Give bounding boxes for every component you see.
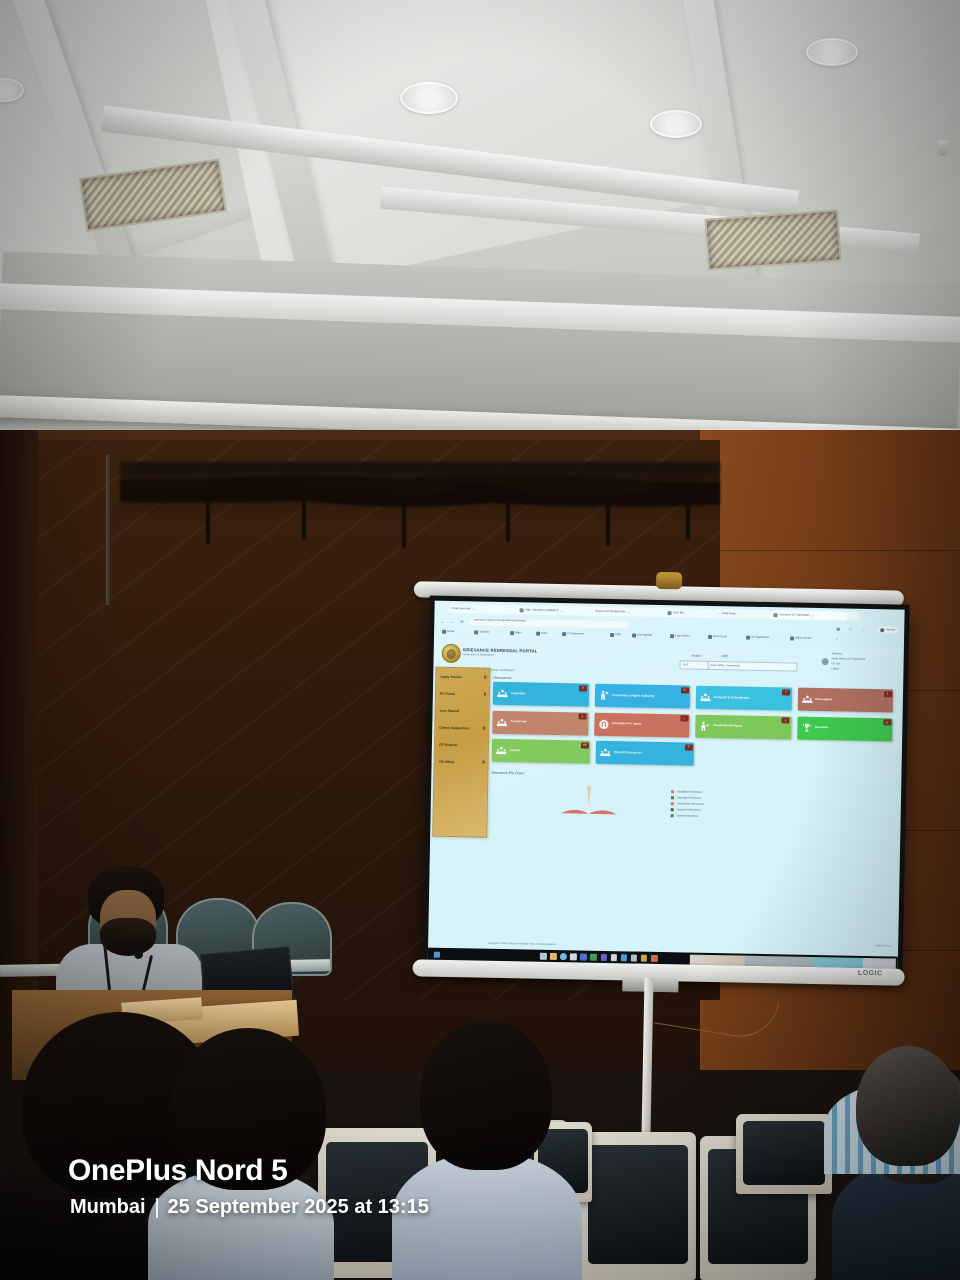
legend-swatch — [671, 796, 674, 799]
decorative-garland — [686, 500, 690, 540]
legend-label: Resolved Grievances — [677, 808, 702, 811]
portal-page: GRIEVANCE REDRESSAL PORTAL Government of… — [428, 640, 904, 970]
chevron-right-icon — [482, 761, 485, 764]
chevron-right-icon — [484, 676, 487, 679]
backdrop-pole — [106, 455, 111, 605]
government-emblem-icon — [442, 644, 461, 663]
tile-label: Closed — [510, 749, 520, 752]
tripod-pole — [641, 978, 653, 1148]
overflow-label: » — [836, 637, 838, 640]
tile-row: Submitted 8 Forwarded to Higher Authorit… — [493, 682, 893, 713]
language-link-english[interactable]: English — [692, 654, 701, 658]
tile-row: Transferred 4 Forwarded For Inputs 1 Res… — [492, 710, 892, 741]
decorative-garland — [206, 500, 210, 544]
group-icon — [497, 688, 508, 699]
chart-credit: Highcharts.com — [876, 944, 893, 947]
year-filter-value: 2025 — [682, 663, 688, 666]
bookmark-item[interactable]: News Cycle — [708, 635, 727, 639]
presenter-beard — [100, 918, 156, 956]
recessed-light — [400, 82, 458, 114]
legend-swatch — [671, 802, 674, 805]
tab-title: Create new draft — [452, 607, 471, 610]
legend-label: Transferred Grievances — [677, 802, 704, 806]
ac-vent — [704, 209, 841, 270]
user-menu[interactable]: Welcome, Nodal Officer, ICT Department C… — [821, 652, 899, 672]
bookmark-label: Login Admin — [675, 635, 689, 638]
chrome-icon[interactable] — [560, 953, 567, 960]
group-icon — [496, 716, 507, 727]
legend-swatch — [671, 808, 674, 811]
bookmark-label: YouTube — [479, 631, 489, 634]
bookmark-icon — [562, 632, 566, 636]
tile-label: Forwarded For Inputs — [612, 723, 642, 727]
store-icon[interactable] — [631, 954, 638, 961]
user-name: Nodal Officer, ICT Department — [832, 657, 866, 661]
tile-count-badge: 208 — [580, 742, 588, 748]
breadcrumb: Home / Dashboard — [490, 668, 514, 672]
bookmark-item[interactable]: Office Circular — [790, 636, 812, 640]
bookmark-label: Office Circular — [795, 637, 811, 640]
menu-icon[interactable]: ⋮ — [860, 627, 864, 632]
sidebar-item-pg-portal[interactable]: PG Portal — [436, 685, 489, 703]
bookmark-item[interactable]: Login Admin — [670, 634, 689, 638]
sprinkler-head — [938, 140, 948, 156]
bookmark-label: User Manual — [637, 634, 652, 637]
watermark-device: OnePlus Nord 5 — [68, 1154, 287, 1188]
sidebar-item-apply-tracker[interactable]: Apply Tracker — [436, 668, 489, 686]
bookmark-icon — [746, 636, 750, 640]
tile-count-badge: 6 — [782, 689, 790, 695]
watermark-city: Mumbai — [70, 1196, 146, 1219]
sidebar-item-cr-offlog[interactable]: CR Offlog — [434, 753, 487, 771]
tab-title: Request for Meeting Invite — [596, 610, 626, 614]
tab-title: New Tab — [673, 611, 683, 614]
bookmark-icon — [708, 635, 712, 639]
tab-title: ePMS Portal — [721, 612, 736, 615]
teams-icon[interactable] — [600, 954, 607, 961]
sidebar-item-label: User Manual — [440, 708, 460, 712]
tile-label: Transferred — [510, 721, 526, 724]
tile-count-badge: 7 — [684, 744, 692, 750]
tile-label: Total CR Grievances — [614, 751, 642, 755]
folder-icon[interactable] — [550, 953, 557, 960]
decorative-garland — [606, 502, 610, 546]
grievance-pie-chart — [555, 782, 622, 843]
search-icon[interactable] — [540, 953, 547, 960]
tile-label: Assigned to Subordinates — [714, 696, 750, 700]
tile-reassigned[interactable]: Reassigned 3 — [797, 688, 893, 713]
tile-label: Forwarded to Higher Authority — [612, 694, 654, 698]
decorative-garland — [120, 462, 720, 520]
decorative-garland — [302, 500, 306, 540]
tab-title: Mail - Grievance Cell@gov.in — [526, 608, 559, 612]
bookmark-item[interactable]: ICT Dashboard — [746, 636, 769, 640]
close-icon[interactable]: × — [561, 609, 563, 613]
group-icon — [600, 747, 611, 758]
projection-screen: Create new draft × Mail - Grievance Cell… — [406, 581, 914, 1011]
start-icon[interactable] — [434, 951, 440, 957]
audience-head — [420, 1020, 552, 1170]
bookmark-label: Drive — [541, 632, 547, 635]
profile-chip[interactable]: Account — [877, 626, 898, 633]
bookmark-label: ICT Dashboard — [751, 636, 769, 639]
tile-total-cr-grievances[interactable]: Total CR Grievances 7 — [596, 741, 694, 766]
bookmark-icon — [474, 630, 478, 634]
browser-tab[interactable]: New Tab — [664, 608, 714, 618]
new-tab-button[interactable] — [844, 612, 859, 621]
forward-icon[interactable]: → — [450, 619, 454, 624]
group-icon — [700, 692, 711, 703]
seat-cushion — [743, 1121, 826, 1185]
watermark-separator — [156, 1198, 158, 1218]
tile-row: Closed 208 Total CR Grievances 7 — [492, 739, 892, 770]
sidebar-item-label: PG Portal — [440, 691, 455, 695]
office-select-value: Select Office / Department — [710, 664, 739, 668]
watermark-datetime: 25 September 2025 at 13:15 — [168, 1196, 429, 1219]
edge-icon[interactable] — [621, 954, 628, 961]
bookmark-label: Gmail — [447, 630, 454, 633]
ceiling — [0, 0, 960, 452]
extension-icon[interactable]: ▣ — [836, 626, 840, 631]
audience-head — [856, 1046, 960, 1166]
tile-submitted[interactable]: Submitted 8 — [493, 682, 589, 707]
tile-forwarded-for-inputs[interactable]: Forwarded For Inputs 1 — [594, 712, 690, 737]
tile-count-badge: 9 — [781, 717, 789, 723]
bookmark-icon — [632, 633, 636, 637]
chart-legend: Escalated Grievances Reassign Grievances… — [671, 790, 705, 821]
bookmark-icon — [536, 632, 540, 636]
bookmark-item[interactable]: User Manual — [632, 633, 652, 637]
audience-seat — [736, 1114, 832, 1194]
tile-label: Reassigned — [815, 698, 831, 701]
seat-cushion — [588, 1145, 688, 1263]
close-icon[interactable]: × — [717, 612, 719, 616]
tile-resolved[interactable]: Resolved 15 — [797, 716, 893, 741]
favicon — [773, 613, 777, 617]
decorative-garland — [506, 500, 510, 542]
legend-label: Reassign Grievances — [677, 796, 702, 799]
settings-icon[interactable] — [641, 955, 648, 962]
close-icon[interactable]: × — [812, 613, 814, 617]
audience-seat — [580, 1132, 696, 1280]
bookmarks-overflow[interactable]: » — [836, 637, 838, 640]
star-icon[interactable]: ☆ — [849, 627, 853, 632]
page-footer: Copyright © 2025 Grievance Redressal Por… — [488, 943, 557, 946]
media-icon[interactable] — [651, 955, 658, 962]
group-icon — [801, 694, 812, 705]
chevron-right-icon — [483, 693, 486, 696]
legend-item[interactable]: Resolved Grievances — [671, 808, 704, 812]
bookmark-item[interactable]: Maps — [510, 631, 522, 635]
person-check-icon — [699, 720, 710, 731]
chevron-right-icon — [483, 727, 486, 730]
tile-closed[interactable]: Closed 208 — [492, 739, 590, 764]
logout-link[interactable]: Logout — [831, 667, 839, 670]
tile-count-badge: 1 — [680, 715, 688, 721]
office-select[interactable]: Select Office / Department — [707, 661, 797, 672]
legend-swatch — [671, 814, 674, 817]
favicon — [667, 611, 671, 615]
bookmark-label: News Cycle — [713, 635, 727, 638]
legend-item[interactable]: Reassign Grievances — [671, 796, 704, 800]
tile-forwarded-higher-authority[interactable]: Forwarded to Higher Authority 12 — [594, 684, 690, 709]
mail-icon[interactable] — [570, 953, 577, 960]
taskbar-pinned-icons — [540, 953, 658, 962]
year-filter[interactable]: 2025 — [679, 660, 709, 670]
legend-item[interactable]: Closed Grievances — [671, 814, 704, 818]
bookmark-label: Maps — [515, 631, 521, 634]
sidebar-item-label: CR Offlog — [439, 759, 454, 763]
screen-frame: Create new draft × Mail - Grievance Cell… — [423, 596, 910, 975]
projected-image: Create new draft × Mail - Grievance Cell… — [428, 601, 905, 970]
tile-transferred[interactable]: Transferred 4 — [492, 710, 588, 735]
legend-label: Closed Grievances — [676, 814, 698, 817]
word-icon[interactable] — [580, 953, 587, 960]
bookmark-label: PMS — [615, 633, 621, 636]
legend-swatch — [671, 790, 674, 793]
bookmark-item[interactable]: IT Department — [562, 632, 584, 636]
tile-label: Resolved with Inputs — [713, 724, 742, 728]
screen-brand-label: LOGIC — [858, 970, 883, 977]
favicon — [520, 608, 524, 612]
user-role: CR Cell — [832, 662, 841, 665]
section-title-grievances: Grievances — [493, 676, 511, 680]
pdf-icon[interactable] — [610, 954, 617, 961]
back-icon[interactable]: ← — [440, 619, 444, 624]
bookmark-icon — [790, 636, 794, 640]
sidebar-item-user-manual[interactable]: User Manual — [435, 702, 488, 720]
tab-title: Grievance ICT Dashboard — [779, 613, 809, 617]
excel-icon[interactable] — [590, 954, 597, 961]
browser-tab[interactable]: Create new draft × — [448, 604, 520, 614]
browser-tab[interactable]: Request for Meeting Invite × — [592, 607, 668, 617]
sidebar-item-citizen-suggestion[interactable]: Citizen Suggestion — [435, 719, 488, 737]
page-subtitle: Government of Maharashtra — [463, 653, 494, 657]
microphone-head — [134, 950, 143, 959]
bookmark-label: IT Department — [567, 632, 584, 635]
group-icon — [496, 745, 507, 756]
tile-count-badge: 4 — [578, 713, 586, 719]
person-arrow-icon — [598, 690, 609, 701]
tile-count-badge: 3 — [883, 691, 891, 697]
sidebar-item-label: Citizen Suggestion — [439, 725, 469, 730]
tile-assigned-subordinates[interactable]: Assigned to Subordinates 6 — [696, 686, 792, 711]
avatar — [880, 628, 884, 632]
tile-resolved-with-inputs[interactable]: Resolved with Inputs 9 — [695, 714, 791, 739]
browser-tab[interactable]: × ePMS Portal — [714, 609, 772, 619]
watermark-location-time: Mumbai 25 September 2025 at 13:15 — [70, 1196, 429, 1219]
tile-count-badge: 15 — [883, 719, 891, 725]
tile-count-badge: 12 — [680, 687, 688, 693]
bookmark-item[interactable]: YouTube — [474, 630, 489, 634]
bookmark-icon — [610, 633, 614, 637]
taskbar-open-window[interactable] — [690, 954, 746, 965]
sidebar-item-label: Apply Tracker — [440, 674, 462, 678]
bookmark-item[interactable]: Gmail — [442, 630, 454, 634]
bookmark-item[interactable]: PMS — [610, 633, 621, 637]
sidebar: Apply Tracker PG Portal User Manual Citi… — [432, 667, 490, 838]
browser-tab-active[interactable]: Grievance ICT Dashboard × — [770, 610, 846, 620]
grievance-tile-grid: Submitted 8 Forwarded to Higher Authorit… — [492, 682, 894, 775]
chart-title: Grievance Pie Chart — [491, 771, 523, 776]
close-icon[interactable]: × — [473, 607, 475, 611]
pie-chart-svg — [555, 782, 622, 843]
legend-item[interactable]: Escalated Grievances — [671, 790, 704, 794]
reload-icon[interactable]: ⟳ — [460, 619, 463, 624]
tile-count-badge: 8 — [579, 685, 587, 691]
avatar — [822, 658, 829, 665]
language-link-marathi[interactable]: मराठी — [722, 654, 728, 658]
profile-label: Account — [886, 628, 895, 631]
award-icon — [801, 722, 812, 733]
bookmark-icon — [510, 631, 514, 635]
tile-label: Resolved — [815, 726, 828, 729]
bookmark-icon — [442, 630, 446, 634]
sidebar-item-cr-request[interactable]: CR Request — [435, 736, 488, 754]
recessed-light — [806, 38, 858, 66]
legend-label: Escalated Grievances — [677, 791, 702, 794]
bookmark-icon — [670, 634, 674, 638]
decorative-garland — [402, 502, 406, 548]
tile-label: Submitted — [511, 692, 525, 695]
screen-mount-knob — [656, 572, 682, 589]
close-icon[interactable]: × — [628, 610, 630, 614]
recessed-light — [650, 110, 702, 138]
user-greeting: Welcome, — [832, 652, 843, 655]
bookmark-item[interactable]: Drive — [536, 632, 547, 636]
browser-tab[interactable]: Mail - Grievance Cell@gov.in × — [516, 605, 596, 616]
photo-scene: Create new draft × Mail - Grievance Cell… — [0, 0, 960, 1280]
sidebar-item-label: CR Request — [439, 742, 458, 746]
legend-item[interactable]: Transferred Grievances — [671, 802, 704, 806]
headset-icon — [598, 718, 609, 729]
